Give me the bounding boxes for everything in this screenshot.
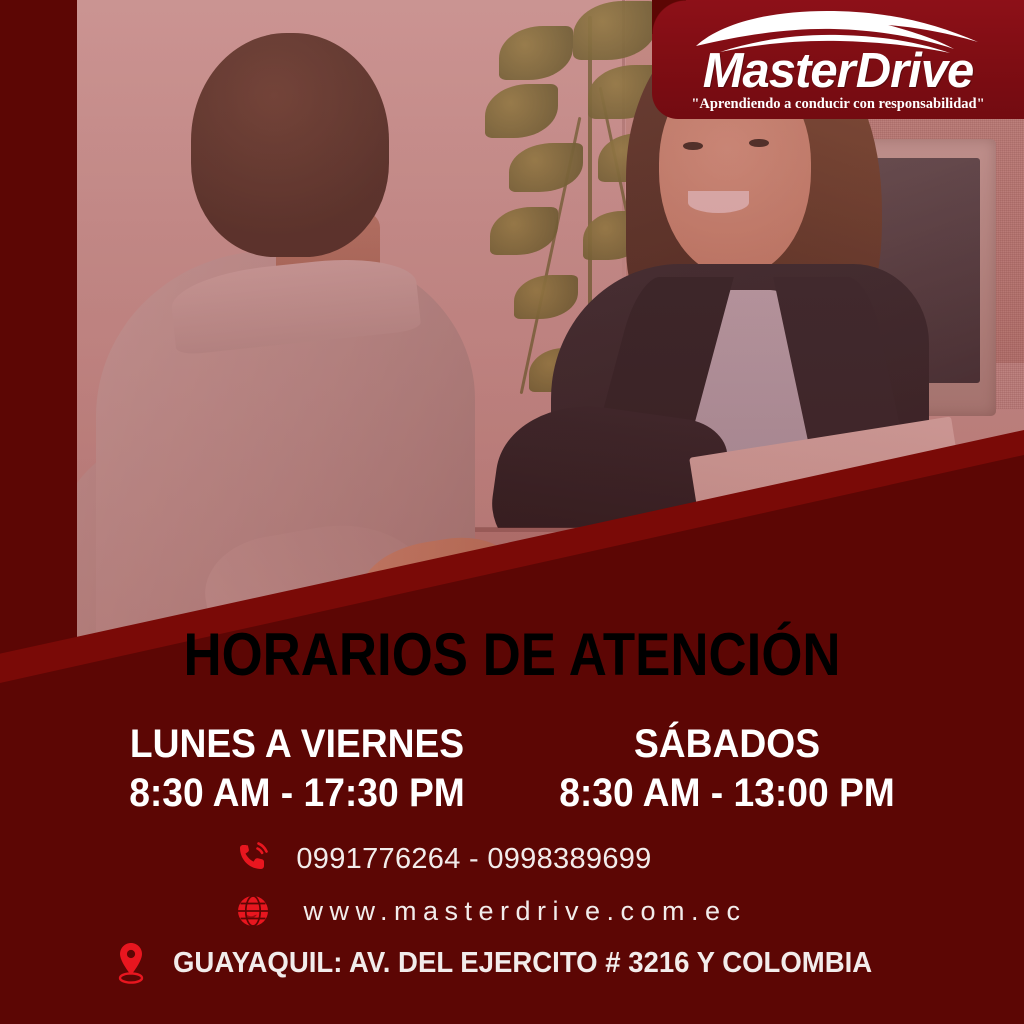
map-pin-icon — [103, 941, 159, 985]
contact-section: 0991776264 - 0998389699 www.ma — [0, 833, 1024, 989]
globe-icon — [225, 891, 281, 931]
contact-row-address[interactable]: GUAYAQUIL: AV. DEL EJERCITO # 3216 Y COL… — [0, 937, 1024, 989]
brand-wordmark: MasterDrive — [652, 47, 1024, 96]
schedule-time-value: 8:30 AM - 13:00 PM — [527, 771, 927, 816]
schedule-time-value: 8:30 AM - 17:30 PM — [97, 771, 497, 816]
brand-name-drive: Drive — [856, 44, 974, 98]
schedule-weekdays: LUNES A VIERNES 8:30 AM - 17:30 PM — [82, 722, 512, 816]
brand-logo-badge: MasterDrive "Aprendiendo a conducir con … — [652, 0, 1024, 119]
brand-tagline: "Aprendiendo a conducir con responsabili… — [652, 96, 1024, 113]
contact-row-phone[interactable]: 0991776264 - 0998389699 — [0, 833, 1024, 885]
brand-name-master: Master — [703, 44, 855, 98]
phone-number-text: 0991776264 - 0998389699 — [296, 843, 651, 876]
website-url-text: www.masterdrive.com.ec — [303, 896, 746, 927]
schedule-day-label: SÁBADOS — [527, 722, 927, 767]
promotional-poster: MasterDrive "Aprendiendo a conducir con … — [0, 0, 1024, 1024]
schedule-day-label: LUNES A VIERNES — [97, 722, 497, 767]
address-text: GUAYAQUIL: AV. DEL EJERCITO # 3216 Y COL… — [173, 947, 872, 980]
schedule-section: LUNES A VIERNES 8:30 AM - 17:30 PM SÁBAD… — [0, 722, 1024, 816]
contact-row-website[interactable]: www.masterdrive.com.ec — [0, 885, 1024, 937]
page-title: HORARIOS DE ATENCIÓN — [61, 625, 962, 685]
phone-ringing-icon — [222, 839, 282, 879]
schedule-saturday: SÁBADOS 8:30 AM - 13:00 PM — [512, 722, 942, 816]
